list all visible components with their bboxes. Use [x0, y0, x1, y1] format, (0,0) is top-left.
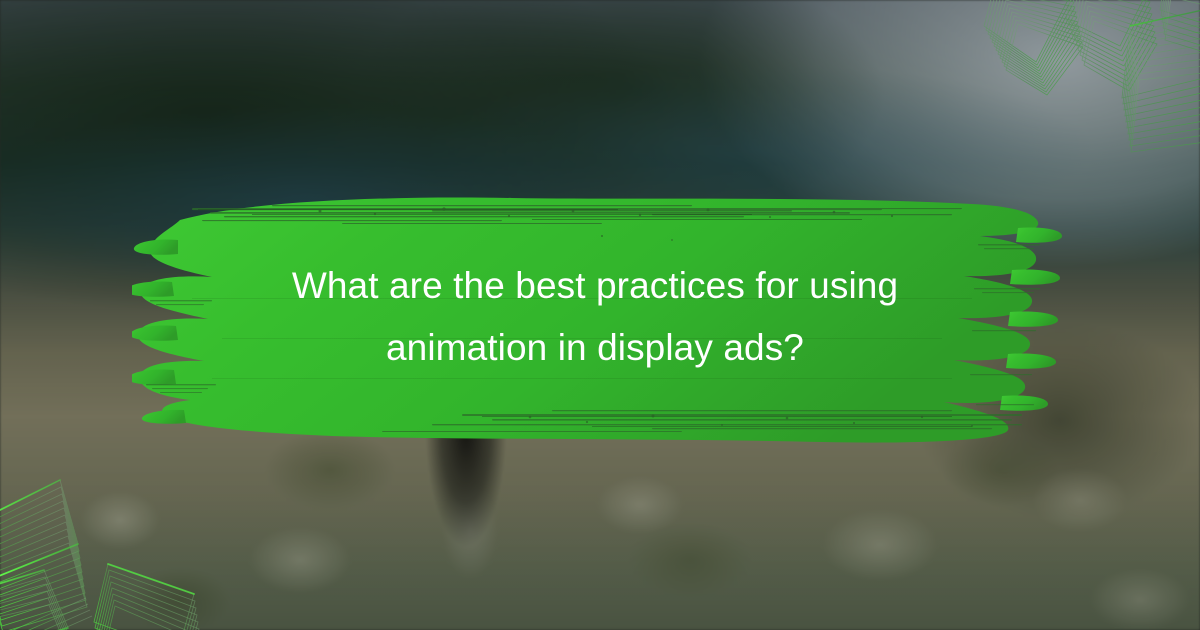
- headline-line-2: animation in display ads?: [150, 317, 1040, 379]
- headline-line-1: What are the best practices for using: [150, 255, 1040, 317]
- page-title: What are the best practices for using an…: [150, 255, 1040, 379]
- share-card-banner: What are the best practices for using an…: [0, 0, 1200, 630]
